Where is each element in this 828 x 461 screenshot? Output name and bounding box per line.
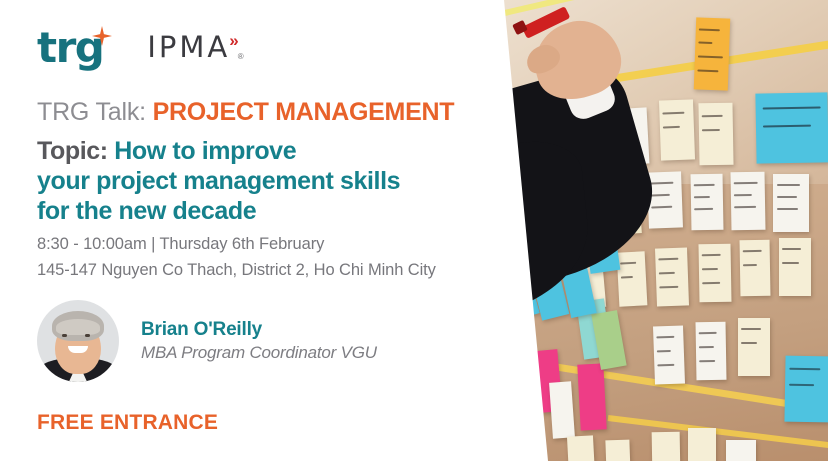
event-meta: 8:30 - 10:00am | Thursday 6th February 1… xyxy=(37,232,436,283)
event-address: 145-147 Nguyen Co Thach, District 2, Ho … xyxy=(37,258,436,284)
sticky-note xyxy=(698,244,731,303)
sticky-note xyxy=(617,251,648,306)
topic-line-2: your project management skills xyxy=(37,167,400,195)
hero-photo xyxy=(448,0,828,461)
sticky-note xyxy=(694,17,730,90)
topic-block: Topic: How to improve your project manag… xyxy=(37,136,467,226)
logo-row: trg IPMA » ® xyxy=(37,28,244,68)
topic-line-1: How to improve xyxy=(114,137,296,165)
sticky-note xyxy=(577,363,606,430)
sticky-note xyxy=(549,381,575,438)
speaker-role: MBA Program Coordinator VGU xyxy=(141,343,377,363)
ipma-logo: IPMA » ® xyxy=(147,30,243,68)
speaker-text: Brian O'Reilly MBA Program Coordinator V… xyxy=(141,319,377,363)
sticky-note xyxy=(698,103,733,166)
sticky-note xyxy=(691,174,724,231)
sticky-note xyxy=(779,238,811,296)
event-poster: trg IPMA » ® TRG Talk: PROJECT MANAGEMEN… xyxy=(0,0,828,461)
sticky-note xyxy=(695,322,726,381)
ipma-chevron-icon: » xyxy=(229,31,236,51)
sticky-note xyxy=(730,172,765,231)
sticky-note xyxy=(738,318,770,376)
topic-label: Topic: xyxy=(37,137,108,165)
speaker-name: Brian O'Reilly xyxy=(141,319,377,341)
ipma-logo-text: IPMA xyxy=(147,30,230,64)
trg-logo: trg xyxy=(37,28,103,68)
avatar-hair xyxy=(52,311,104,341)
sticky-note xyxy=(740,240,771,297)
sticky-note xyxy=(726,440,756,461)
event-time-date: 8:30 - 10:00am | Thursday 6th February xyxy=(37,232,436,258)
sticky-note xyxy=(605,440,630,461)
speaker-block: Brian O'Reilly MBA Program Coordinator V… xyxy=(37,300,377,382)
sticky-note xyxy=(655,247,689,306)
sticky-note xyxy=(652,432,681,461)
talk-highlight: PROJECT MANAGEMENT xyxy=(153,98,455,126)
sticky-note xyxy=(784,356,828,423)
talk-prefix: TRG Talk: xyxy=(37,98,146,126)
avatar xyxy=(37,300,119,382)
four-point-star-icon xyxy=(92,26,112,46)
talk-headline: TRG Talk: PROJECT MANAGEMENT xyxy=(37,98,454,127)
sticky-note xyxy=(567,435,595,461)
sticky-note xyxy=(659,99,695,160)
registered-mark-icon: ® xyxy=(238,52,244,61)
sticky-note xyxy=(755,92,828,163)
topic-line-3: for the new decade xyxy=(37,197,256,225)
sticky-note xyxy=(773,174,809,232)
content-panel: trg IPMA » ® TRG Talk: PROJECT MANAGEMEN… xyxy=(0,0,470,461)
sticky-note xyxy=(647,171,683,228)
sticky-note xyxy=(688,428,716,461)
free-entrance-label: FREE ENTRANCE xyxy=(37,411,218,435)
sticky-note xyxy=(653,325,685,384)
